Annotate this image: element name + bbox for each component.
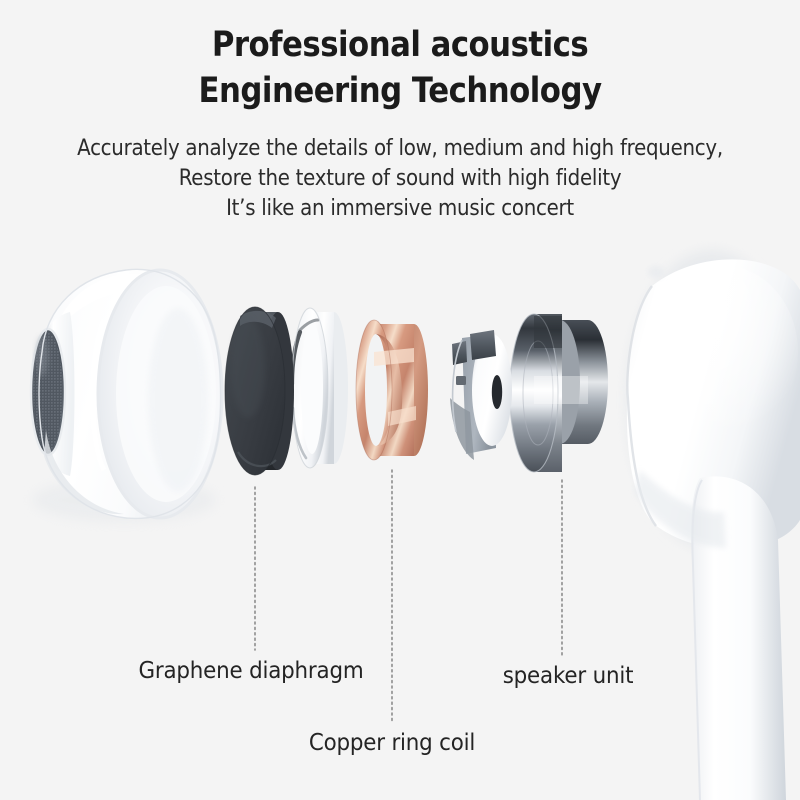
heading-line-2: Engineering Technology (48, 68, 752, 114)
exploded-view-diagram (0, 0, 800, 800)
component-copper-ring-coil (356, 320, 428, 460)
ear-tip-mesh-grille (31, 329, 65, 455)
subtitle-line-2: Restore the texture of sound with high f… (40, 164, 760, 194)
component-translucent-ring (292, 308, 348, 468)
component-ear-tip (31, 269, 222, 522)
subtitle-block: Accurately analyze the details of low, m… (0, 134, 800, 224)
heading-line-1: Professional acoustics (48, 22, 752, 68)
subtitle-line-1: Accurately analyze the details of low, m… (40, 134, 760, 164)
infographic-page: Professional acoustics Engineering Techn… (0, 0, 800, 800)
heading-block: Professional acoustics Engineering Techn… (0, 22, 800, 114)
subtitle-line-3: It’s like an immersive music concert (40, 194, 760, 224)
label-graphene-diaphragm: Graphene diaphragm (138, 658, 363, 684)
component-graphene-diaphragm (225, 307, 294, 475)
label-speaker-unit: speaker unit (503, 663, 634, 689)
label-copper-ring-coil: Copper ring coil (309, 730, 475, 756)
